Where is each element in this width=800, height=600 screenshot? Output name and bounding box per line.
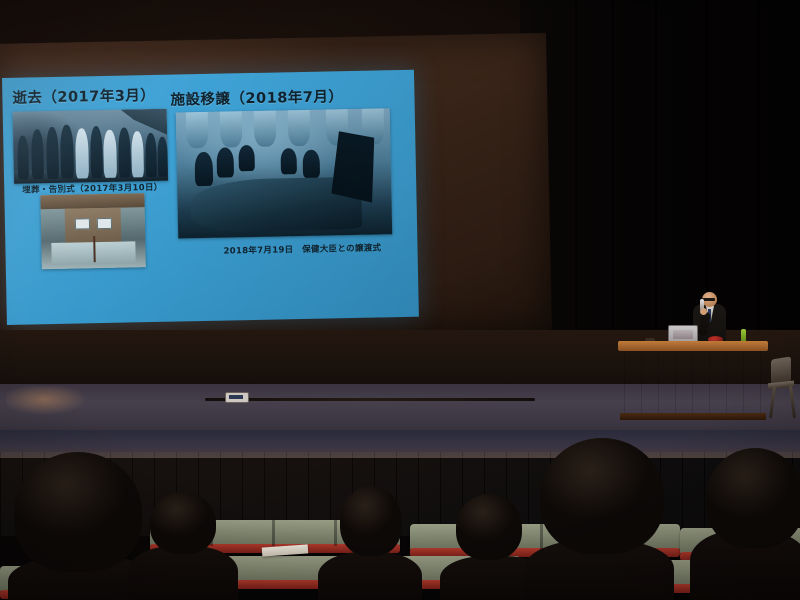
handover-ceremony-photo	[176, 108, 392, 238]
slide-heading-death: 逝去（2017年3月）	[12, 84, 155, 108]
audience-member	[150, 492, 216, 554]
photo-ceiling	[40, 193, 144, 209]
photo-window-drape	[186, 112, 209, 148]
stage-floor-light-pool	[6, 386, 101, 416]
slide-caption-handover: 2018年7月19日 保健大臣との譲渡式	[223, 241, 381, 256]
audience-member	[340, 486, 402, 556]
photo-figure	[103, 130, 117, 178]
podium	[624, 351, 762, 415]
tomb-vault-photo	[40, 193, 145, 269]
photo-figure	[118, 127, 131, 177]
projected-slide: 逝去（2017年3月） 施設移譲（2018年7月） 埋葬・告別式（2017年3月…	[2, 70, 419, 325]
podium-top	[618, 341, 768, 351]
audience-member	[14, 452, 142, 572]
photo-plaque	[97, 218, 112, 229]
funeral-lineup-photo	[13, 109, 168, 184]
stage-cable	[205, 398, 535, 401]
photo-figure	[17, 135, 29, 179]
photo-person	[195, 152, 214, 186]
photo-figure	[31, 129, 44, 179]
photo-figure	[46, 127, 59, 179]
audience-member	[540, 438, 664, 554]
photo-figure	[157, 137, 168, 177]
podium-base	[620, 413, 766, 420]
photo-person	[280, 148, 297, 174]
photo-window-drape	[220, 111, 243, 147]
audience-member	[128, 546, 238, 600]
photo-figure	[145, 133, 157, 177]
audience-member	[706, 448, 800, 548]
photo-window-drape	[288, 110, 311, 146]
slide-heading-handover: 施設移譲（2018年7月）	[170, 85, 343, 109]
lecture-hall-photo: 逝去（2017年3月） 施設移譲（2018年7月） 埋葬・告別式（2017年3月…	[0, 0, 800, 600]
photo-figure	[131, 131, 144, 177]
photo-window-drape	[254, 111, 277, 147]
presenter-hand	[700, 308, 707, 315]
photo-plaque	[75, 218, 90, 229]
photo-figure	[60, 125, 74, 179]
photo-person	[216, 147, 234, 177]
audience-member	[318, 552, 422, 600]
photo-person	[238, 145, 255, 171]
photo-figure	[75, 128, 89, 178]
photo-person	[303, 150, 321, 178]
audience-member	[456, 494, 522, 560]
floor-monitor-box	[225, 392, 249, 403]
photo-figure	[90, 126, 103, 178]
